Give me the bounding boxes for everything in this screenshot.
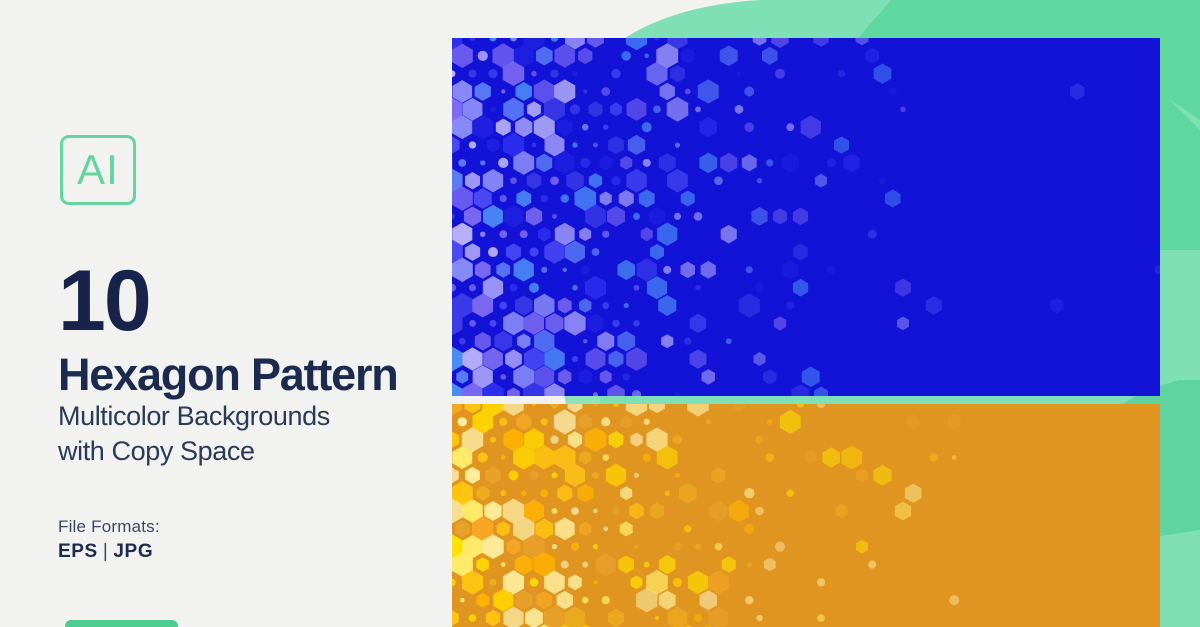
subtitle-line-1: Multicolor Backgrounds — [58, 399, 330, 434]
page-subtitle: Multicolor Backgrounds with Copy Space — [58, 399, 330, 468]
ai-badge-label: AI — [77, 149, 119, 191]
poster-canvas: AI 10 Hexagon Pattern Multicolor Backgro… — [0, 0, 1200, 627]
page-title: Hexagon Pattern — [58, 352, 398, 397]
format-eps: EPS — [58, 541, 98, 562]
file-formats-label: File Formats: — [58, 517, 160, 537]
file-formats-value: EPS|JPG — [58, 541, 153, 563]
preview-orange[interactable] — [452, 404, 1160, 627]
info-panel: AI 10 Hexagon Pattern Multicolor Backgro… — [0, 0, 452, 627]
ai-format-badge: AI — [60, 135, 136, 205]
hexagon-pattern-orange — [452, 404, 1160, 627]
hexagon-pattern-blue — [452, 38, 1160, 396]
item-count: 10 — [58, 258, 150, 344]
format-separator: | — [98, 541, 114, 562]
preview-blue[interactable] — [452, 38, 1160, 396]
subtitle-line-2: with Copy Space — [58, 434, 330, 469]
format-jpg: JPG — [113, 541, 153, 562]
cta-button[interactable] — [65, 620, 178, 627]
